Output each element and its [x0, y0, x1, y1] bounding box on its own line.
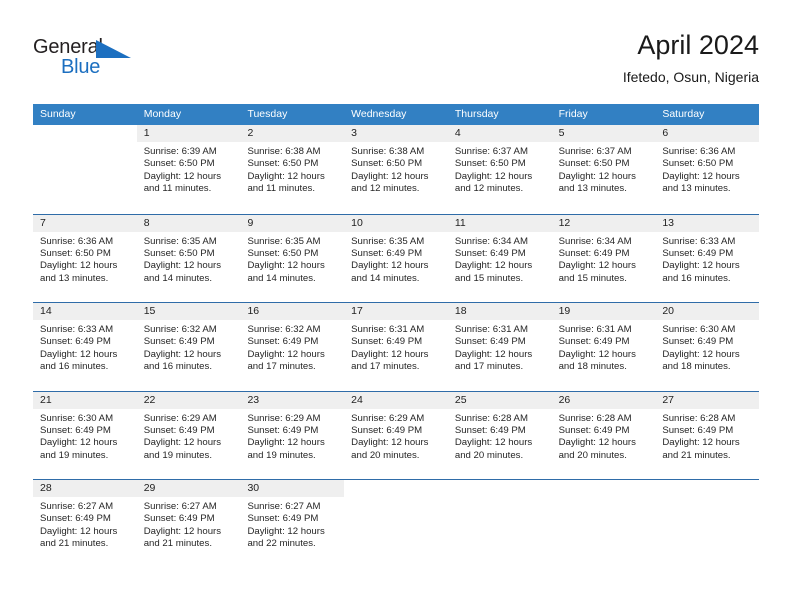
day-detail-line: Daylight: 12 hours [144, 437, 235, 449]
day-detail-line: Daylight: 12 hours [351, 349, 442, 361]
day-detail-line: Sunrise: 6:36 AM [40, 236, 131, 248]
day-cell-empty [552, 480, 656, 568]
day-detail-line: Sunset: 6:49 PM [144, 425, 235, 437]
day-detail-line: Daylight: 12 hours [144, 171, 235, 183]
day-detail-line: Sunset: 6:49 PM [559, 425, 650, 437]
day-detail-line: Sunrise: 6:28 AM [662, 413, 753, 425]
day-detail-line: Sunrise: 6:28 AM [559, 413, 650, 425]
day-detail-line: Sunset: 6:50 PM [247, 248, 338, 260]
day-number: 14 [33, 303, 137, 320]
day-details: Sunrise: 6:36 AMSunset: 6:50 PMDaylight:… [655, 142, 759, 196]
day-detail-line: and 16 minutes. [144, 361, 235, 373]
day-number [448, 480, 552, 497]
day-details: Sunrise: 6:36 AMSunset: 6:50 PMDaylight:… [33, 232, 137, 286]
day-detail-line: Sunset: 6:49 PM [144, 336, 235, 348]
day-detail-line: Sunset: 6:50 PM [40, 248, 131, 260]
day-cell[interactable]: 17Sunrise: 6:31 AMSunset: 6:49 PMDayligh… [344, 303, 448, 391]
day-detail-line: Daylight: 12 hours [455, 260, 546, 272]
day-cell[interactable]: 2Sunrise: 6:38 AMSunset: 6:50 PMDaylight… [240, 125, 344, 214]
day-detail-line: Sunset: 6:49 PM [351, 336, 442, 348]
day-detail-line: Sunset: 6:49 PM [247, 336, 338, 348]
calendar-grid: Sunday Monday Tuesday Wednesday Thursday… [33, 104, 759, 568]
day-detail-line: Daylight: 12 hours [662, 171, 753, 183]
day-number: 19 [552, 303, 656, 320]
day-detail-line: and 15 minutes. [455, 273, 546, 285]
day-detail-line: Sunset: 6:49 PM [40, 513, 131, 525]
week-row: 21Sunrise: 6:30 AMSunset: 6:49 PMDayligh… [33, 391, 759, 480]
day-detail-line: and 16 minutes. [662, 273, 753, 285]
day-detail-line: Daylight: 12 hours [559, 260, 650, 272]
day-detail-line: Daylight: 12 hours [559, 437, 650, 449]
day-detail-line: and 14 minutes. [144, 273, 235, 285]
day-number: 1 [137, 125, 241, 142]
day-details: Sunrise: 6:27 AMSunset: 6:49 PMDaylight:… [240, 497, 344, 551]
day-details: Sunrise: 6:34 AMSunset: 6:49 PMDaylight:… [448, 232, 552, 286]
day-detail-line: and 21 minutes. [40, 538, 131, 550]
day-detail-line: and 12 minutes. [351, 183, 442, 195]
day-detail-line: Sunrise: 6:33 AM [40, 324, 131, 336]
title-block: April 2024 Ifetedo, Osun, Nigeria [623, 28, 759, 88]
day-detail-line: and 19 minutes. [247, 450, 338, 462]
day-cell[interactable]: 30Sunrise: 6:27 AMSunset: 6:49 PMDayligh… [240, 480, 344, 568]
weekday-header-row: Sunday Monday Tuesday Wednesday Thursday… [33, 104, 759, 125]
day-details: Sunrise: 6:27 AMSunset: 6:49 PMDaylight:… [33, 497, 137, 551]
day-detail-line: Sunrise: 6:30 AM [40, 413, 131, 425]
day-detail-line: Sunrise: 6:27 AM [144, 501, 235, 513]
day-number: 18 [448, 303, 552, 320]
day-cell[interactable]: 12Sunrise: 6:34 AMSunset: 6:49 PMDayligh… [552, 215, 656, 303]
day-detail-line: Daylight: 12 hours [559, 349, 650, 361]
day-details: Sunrise: 6:28 AMSunset: 6:49 PMDaylight:… [448, 409, 552, 463]
brand-logo[interactable]: General Blue [33, 36, 173, 82]
day-detail-line: and 14 minutes. [247, 273, 338, 285]
day-number: 4 [448, 125, 552, 142]
day-detail-line: Daylight: 12 hours [247, 260, 338, 272]
day-detail-line: Sunset: 6:49 PM [662, 336, 753, 348]
day-cell[interactable]: 27Sunrise: 6:28 AMSunset: 6:49 PMDayligh… [655, 392, 759, 480]
day-detail-line: Daylight: 12 hours [662, 349, 753, 361]
day-cell[interactable]: 5Sunrise: 6:37 AMSunset: 6:50 PMDaylight… [552, 125, 656, 214]
day-details: Sunrise: 6:30 AMSunset: 6:49 PMDaylight:… [655, 320, 759, 374]
day-number: 10 [344, 215, 448, 232]
day-detail-line: Daylight: 12 hours [351, 437, 442, 449]
day-detail-line: and 19 minutes. [144, 450, 235, 462]
day-detail-line: Daylight: 12 hours [247, 171, 338, 183]
page-subtitle: Ifetedo, Osun, Nigeria [623, 66, 759, 88]
day-details: Sunrise: 6:38 AMSunset: 6:50 PMDaylight:… [344, 142, 448, 196]
weekday-friday: Friday [552, 104, 656, 125]
day-detail-line: and 15 minutes. [559, 273, 650, 285]
day-detail-line: Sunrise: 6:32 AM [144, 324, 235, 336]
day-detail-line: Sunset: 6:49 PM [559, 336, 650, 348]
day-details: Sunrise: 6:37 AMSunset: 6:50 PMDaylight:… [552, 142, 656, 196]
day-details: Sunrise: 6:35 AMSunset: 6:50 PMDaylight:… [240, 232, 344, 286]
calendar-page: General Blue April 2024 Ifetedo, Osun, N… [0, 0, 792, 612]
day-detail-line: Sunset: 6:50 PM [144, 248, 235, 260]
day-detail-line: Daylight: 12 hours [351, 171, 442, 183]
day-detail-line: Sunset: 6:49 PM [247, 425, 338, 437]
day-detail-line: and 11 minutes. [247, 183, 338, 195]
day-cell[interactable]: 22Sunrise: 6:29 AMSunset: 6:49 PMDayligh… [137, 392, 241, 480]
day-number: 24 [344, 392, 448, 409]
day-detail-line: Daylight: 12 hours [144, 349, 235, 361]
day-number: 13 [655, 215, 759, 232]
day-cell[interactable]: 8Sunrise: 6:35 AMSunset: 6:50 PMDaylight… [137, 215, 241, 303]
day-detail-line: Sunset: 6:49 PM [351, 248, 442, 260]
day-detail-line: and 21 minutes. [662, 450, 753, 462]
day-detail-line: Sunset: 6:49 PM [662, 248, 753, 260]
day-detail-line: Sunset: 6:49 PM [559, 248, 650, 260]
day-detail-line: Daylight: 12 hours [247, 526, 338, 538]
day-detail-line: and 22 minutes. [247, 538, 338, 550]
day-details: Sunrise: 6:37 AMSunset: 6:50 PMDaylight:… [448, 142, 552, 196]
day-detail-line: Daylight: 12 hours [144, 526, 235, 538]
day-details: Sunrise: 6:32 AMSunset: 6:49 PMDaylight:… [137, 320, 241, 374]
day-number: 6 [655, 125, 759, 142]
day-details: Sunrise: 6:28 AMSunset: 6:49 PMDaylight:… [552, 409, 656, 463]
day-detail-line: and 13 minutes. [559, 183, 650, 195]
page-title: April 2024 [623, 28, 759, 62]
day-detail-line: Sunrise: 6:28 AM [455, 413, 546, 425]
day-detail-line: Sunrise: 6:27 AM [40, 501, 131, 513]
brand-name-secondary: Blue [61, 56, 100, 79]
day-cell[interactable]: 1Sunrise: 6:39 AMSunset: 6:50 PMDaylight… [137, 125, 241, 214]
week-row: 28Sunrise: 6:27 AMSunset: 6:49 PMDayligh… [33, 479, 759, 568]
day-detail-line: Sunrise: 6:36 AM [662, 146, 753, 158]
weekday-sunday: Sunday [33, 104, 137, 125]
day-detail-line: Sunrise: 6:32 AM [247, 324, 338, 336]
day-cell[interactable]: 11Sunrise: 6:34 AMSunset: 6:49 PMDayligh… [448, 215, 552, 303]
day-detail-line: Daylight: 12 hours [455, 349, 546, 361]
day-cell[interactable]: 4Sunrise: 6:37 AMSunset: 6:50 PMDaylight… [448, 125, 552, 214]
day-cell[interactable]: 24Sunrise: 6:29 AMSunset: 6:49 PMDayligh… [344, 392, 448, 480]
day-cell[interactable]: 26Sunrise: 6:28 AMSunset: 6:49 PMDayligh… [552, 392, 656, 480]
day-detail-line: Daylight: 12 hours [40, 526, 131, 538]
day-cell[interactable]: 20Sunrise: 6:30 AMSunset: 6:49 PMDayligh… [655, 303, 759, 391]
day-detail-line: Sunset: 6:49 PM [247, 513, 338, 525]
day-cell[interactable]: 9Sunrise: 6:35 AMSunset: 6:50 PMDaylight… [240, 215, 344, 303]
day-details: Sunrise: 6:29 AMSunset: 6:49 PMDaylight:… [240, 409, 344, 463]
day-number [655, 480, 759, 497]
day-number: 17 [344, 303, 448, 320]
day-detail-line: Daylight: 12 hours [40, 349, 131, 361]
day-number: 16 [240, 303, 344, 320]
day-detail-line: Daylight: 12 hours [351, 260, 442, 272]
day-cell[interactable]: 16Sunrise: 6:32 AMSunset: 6:49 PMDayligh… [240, 303, 344, 391]
page-header: General Blue April 2024 Ifetedo, Osun, N… [33, 28, 759, 98]
day-cell-empty [33, 125, 137, 214]
day-cell[interactable]: 15Sunrise: 6:32 AMSunset: 6:49 PMDayligh… [137, 303, 241, 391]
day-detail-line: Sunset: 6:49 PM [455, 336, 546, 348]
day-detail-line: Sunrise: 6:30 AM [662, 324, 753, 336]
weekday-saturday: Saturday [655, 104, 759, 125]
day-details: Sunrise: 6:31 AMSunset: 6:49 PMDaylight:… [552, 320, 656, 374]
day-cell[interactable]: 28Sunrise: 6:27 AMSunset: 6:49 PMDayligh… [33, 480, 137, 568]
day-cell[interactable]: 7Sunrise: 6:36 AMSunset: 6:50 PMDaylight… [33, 215, 137, 303]
day-detail-line: Sunrise: 6:39 AM [144, 146, 235, 158]
day-details: Sunrise: 6:27 AMSunset: 6:49 PMDaylight:… [137, 497, 241, 551]
day-details: Sunrise: 6:29 AMSunset: 6:49 PMDaylight:… [137, 409, 241, 463]
day-number: 21 [33, 392, 137, 409]
day-detail-line: Sunset: 6:49 PM [40, 336, 131, 348]
day-details: Sunrise: 6:35 AMSunset: 6:49 PMDaylight:… [344, 232, 448, 286]
day-cell[interactable]: 14Sunrise: 6:33 AMSunset: 6:49 PMDayligh… [33, 303, 137, 391]
day-number: 15 [137, 303, 241, 320]
day-detail-line: Sunrise: 6:29 AM [247, 413, 338, 425]
day-detail-line: Sunrise: 6:31 AM [559, 324, 650, 336]
day-detail-line: and 11 minutes. [144, 183, 235, 195]
day-detail-line: Sunset: 6:50 PM [559, 158, 650, 170]
day-detail-line: Daylight: 12 hours [455, 171, 546, 183]
day-detail-line: Daylight: 12 hours [247, 437, 338, 449]
day-cell[interactable]: 18Sunrise: 6:31 AMSunset: 6:49 PMDayligh… [448, 303, 552, 391]
day-number: 30 [240, 480, 344, 497]
day-detail-line: and 16 minutes. [40, 361, 131, 373]
day-number: 20 [655, 303, 759, 320]
day-details: Sunrise: 6:29 AMSunset: 6:49 PMDaylight:… [344, 409, 448, 463]
day-detail-line: and 20 minutes. [559, 450, 650, 462]
day-number: 22 [137, 392, 241, 409]
day-details: Sunrise: 6:33 AMSunset: 6:49 PMDaylight:… [33, 320, 137, 374]
day-detail-line: Daylight: 12 hours [40, 437, 131, 449]
day-number: 5 [552, 125, 656, 142]
day-cell[interactable]: 10Sunrise: 6:35 AMSunset: 6:49 PMDayligh… [344, 215, 448, 303]
day-number: 27 [655, 392, 759, 409]
day-number [33, 125, 137, 142]
day-cell[interactable]: 19Sunrise: 6:31 AMSunset: 6:49 PMDayligh… [552, 303, 656, 391]
day-detail-line: Sunset: 6:50 PM [662, 158, 753, 170]
day-detail-line: Sunrise: 6:31 AM [351, 324, 442, 336]
day-detail-line: and 19 minutes. [40, 450, 131, 462]
day-cell[interactable]: 6Sunrise: 6:36 AMSunset: 6:50 PMDaylight… [655, 125, 759, 214]
day-details: Sunrise: 6:35 AMSunset: 6:50 PMDaylight:… [137, 232, 241, 286]
weekday-wednesday: Wednesday [344, 104, 448, 125]
day-detail-line: Sunrise: 6:37 AM [455, 146, 546, 158]
day-detail-line: Daylight: 12 hours [247, 349, 338, 361]
day-detail-line: Sunrise: 6:29 AM [144, 413, 235, 425]
day-detail-line: and 14 minutes. [351, 273, 442, 285]
day-details: Sunrise: 6:38 AMSunset: 6:50 PMDaylight:… [240, 142, 344, 196]
weekday-monday: Monday [137, 104, 241, 125]
day-number [344, 480, 448, 497]
day-cell-empty [344, 480, 448, 568]
day-detail-line: and 18 minutes. [559, 361, 650, 373]
day-number: 11 [448, 215, 552, 232]
weekday-tuesday: Tuesday [240, 104, 344, 125]
day-detail-line: Sunrise: 6:35 AM [351, 236, 442, 248]
day-detail-line: and 12 minutes. [455, 183, 546, 195]
day-detail-line: Sunset: 6:49 PM [144, 513, 235, 525]
day-detail-line: Sunrise: 6:33 AM [662, 236, 753, 248]
day-detail-line: Daylight: 12 hours [40, 260, 131, 272]
day-detail-line: Sunrise: 6:35 AM [247, 236, 338, 248]
day-number [552, 480, 656, 497]
weekday-thursday: Thursday [448, 104, 552, 125]
day-detail-line: and 17 minutes. [247, 361, 338, 373]
day-detail-line: Sunset: 6:49 PM [662, 425, 753, 437]
day-detail-line: Sunset: 6:50 PM [247, 158, 338, 170]
day-cell[interactable]: 13Sunrise: 6:33 AMSunset: 6:49 PMDayligh… [655, 215, 759, 303]
day-details: Sunrise: 6:30 AMSunset: 6:49 PMDaylight:… [33, 409, 137, 463]
day-detail-line: Sunrise: 6:27 AM [247, 501, 338, 513]
day-detail-line: and 17 minutes. [455, 361, 546, 373]
day-details: Sunrise: 6:34 AMSunset: 6:49 PMDaylight:… [552, 232, 656, 286]
day-detail-line: and 21 minutes. [144, 538, 235, 550]
day-detail-line: Sunset: 6:49 PM [455, 425, 546, 437]
week-row: 14Sunrise: 6:33 AMSunset: 6:49 PMDayligh… [33, 302, 759, 391]
day-details: Sunrise: 6:32 AMSunset: 6:49 PMDaylight:… [240, 320, 344, 374]
day-number: 3 [344, 125, 448, 142]
day-cell-empty [655, 480, 759, 568]
day-details: Sunrise: 6:31 AMSunset: 6:49 PMDaylight:… [448, 320, 552, 374]
day-detail-line: Daylight: 12 hours [144, 260, 235, 272]
day-detail-line: Sunset: 6:50 PM [455, 158, 546, 170]
day-detail-line: Sunset: 6:49 PM [40, 425, 131, 437]
day-cell[interactable]: 23Sunrise: 6:29 AMSunset: 6:49 PMDayligh… [240, 392, 344, 480]
day-cell[interactable]: 29Sunrise: 6:27 AMSunset: 6:49 PMDayligh… [137, 480, 241, 568]
triangle-logo-icon [96, 40, 131, 63]
day-detail-line: Sunrise: 6:35 AM [144, 236, 235, 248]
day-detail-line: Sunrise: 6:31 AM [455, 324, 546, 336]
day-detail-line: Sunset: 6:50 PM [144, 158, 235, 170]
day-number: 9 [240, 215, 344, 232]
day-number: 8 [137, 215, 241, 232]
day-cell[interactable]: 3Sunrise: 6:38 AMSunset: 6:50 PMDaylight… [344, 125, 448, 214]
day-detail-line: Daylight: 12 hours [455, 437, 546, 449]
day-details: Sunrise: 6:33 AMSunset: 6:49 PMDaylight:… [655, 232, 759, 286]
day-detail-line: and 20 minutes. [455, 450, 546, 462]
day-number: 28 [33, 480, 137, 497]
day-detail-line: Sunset: 6:49 PM [455, 248, 546, 260]
day-detail-line: Sunrise: 6:38 AM [247, 146, 338, 158]
day-number: 12 [552, 215, 656, 232]
day-detail-line: Sunrise: 6:34 AM [455, 236, 546, 248]
weeks-container: 1Sunrise: 6:39 AMSunset: 6:50 PMDaylight… [33, 125, 759, 568]
day-detail-line: Sunset: 6:49 PM [351, 425, 442, 437]
day-detail-line: Sunrise: 6:38 AM [351, 146, 442, 158]
day-number: 2 [240, 125, 344, 142]
day-number: 25 [448, 392, 552, 409]
day-details: Sunrise: 6:39 AMSunset: 6:50 PMDaylight:… [137, 142, 241, 196]
day-detail-line: Sunrise: 6:37 AM [559, 146, 650, 158]
day-details: Sunrise: 6:28 AMSunset: 6:49 PMDaylight:… [655, 409, 759, 463]
day-detail-line: Daylight: 12 hours [662, 260, 753, 272]
day-number: 23 [240, 392, 344, 409]
day-detail-line: Sunset: 6:50 PM [351, 158, 442, 170]
day-detail-line: and 17 minutes. [351, 361, 442, 373]
day-cell-empty [448, 480, 552, 568]
day-number: 29 [137, 480, 241, 497]
day-detail-line: and 13 minutes. [40, 273, 131, 285]
day-details: Sunrise: 6:31 AMSunset: 6:49 PMDaylight:… [344, 320, 448, 374]
day-detail-line: and 13 minutes. [662, 183, 753, 195]
week-row: 7Sunrise: 6:36 AMSunset: 6:50 PMDaylight… [33, 214, 759, 303]
day-detail-line: Sunrise: 6:29 AM [351, 413, 442, 425]
day-cell[interactable]: 21Sunrise: 6:30 AMSunset: 6:49 PMDayligh… [33, 392, 137, 480]
day-number: 26 [552, 392, 656, 409]
day-detail-line: and 18 minutes. [662, 361, 753, 373]
day-number: 7 [33, 215, 137, 232]
day-cell[interactable]: 25Sunrise: 6:28 AMSunset: 6:49 PMDayligh… [448, 392, 552, 480]
week-row: 1Sunrise: 6:39 AMSunset: 6:50 PMDaylight… [33, 125, 759, 214]
day-detail-line: and 20 minutes. [351, 450, 442, 462]
day-detail-line: Daylight: 12 hours [662, 437, 753, 449]
day-detail-line: Daylight: 12 hours [559, 171, 650, 183]
day-detail-line: Sunrise: 6:34 AM [559, 236, 650, 248]
